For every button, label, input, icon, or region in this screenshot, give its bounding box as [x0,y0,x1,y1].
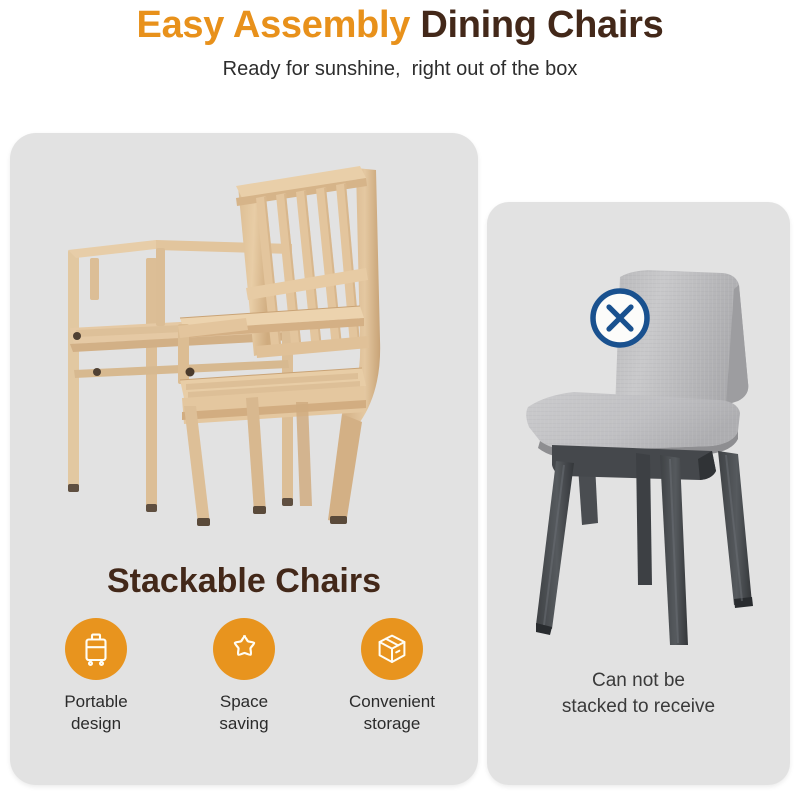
headline-rest: Dining Chairs [410,4,663,46]
stackable-chairs-title: Stackable Chairs [10,562,478,601]
list-item-label: Convenient storage [349,691,435,735]
list-item-label: Space saving [219,691,268,735]
list-item: Convenient storage [330,618,454,735]
feature-icon-badge [213,618,275,680]
feature-list: Portable design Space saving [34,618,454,735]
feature-icon-badge [65,618,127,680]
page-subtitle: Ready for sunshine, right out of the box [0,58,800,81]
x-mark-icon [589,287,651,349]
box-icon [374,631,410,667]
list-item: Space saving [182,618,306,735]
stacked-wooden-chairs-image [60,140,420,540]
list-item: Portable design [34,618,158,735]
page-title: Easy Assembly Dining Chairs [0,4,800,47]
not-stackable-caption: Can not be stacked to receive [487,668,790,720]
headline-highlight: Easy Assembly [137,4,411,46]
suitcase-icon [79,631,113,667]
list-item-label: Portable design [64,691,127,735]
star-icon [226,631,262,667]
header-banner: Easy Assembly Dining Chairs Ready for su… [0,0,800,120]
feature-icon-badge [361,618,423,680]
